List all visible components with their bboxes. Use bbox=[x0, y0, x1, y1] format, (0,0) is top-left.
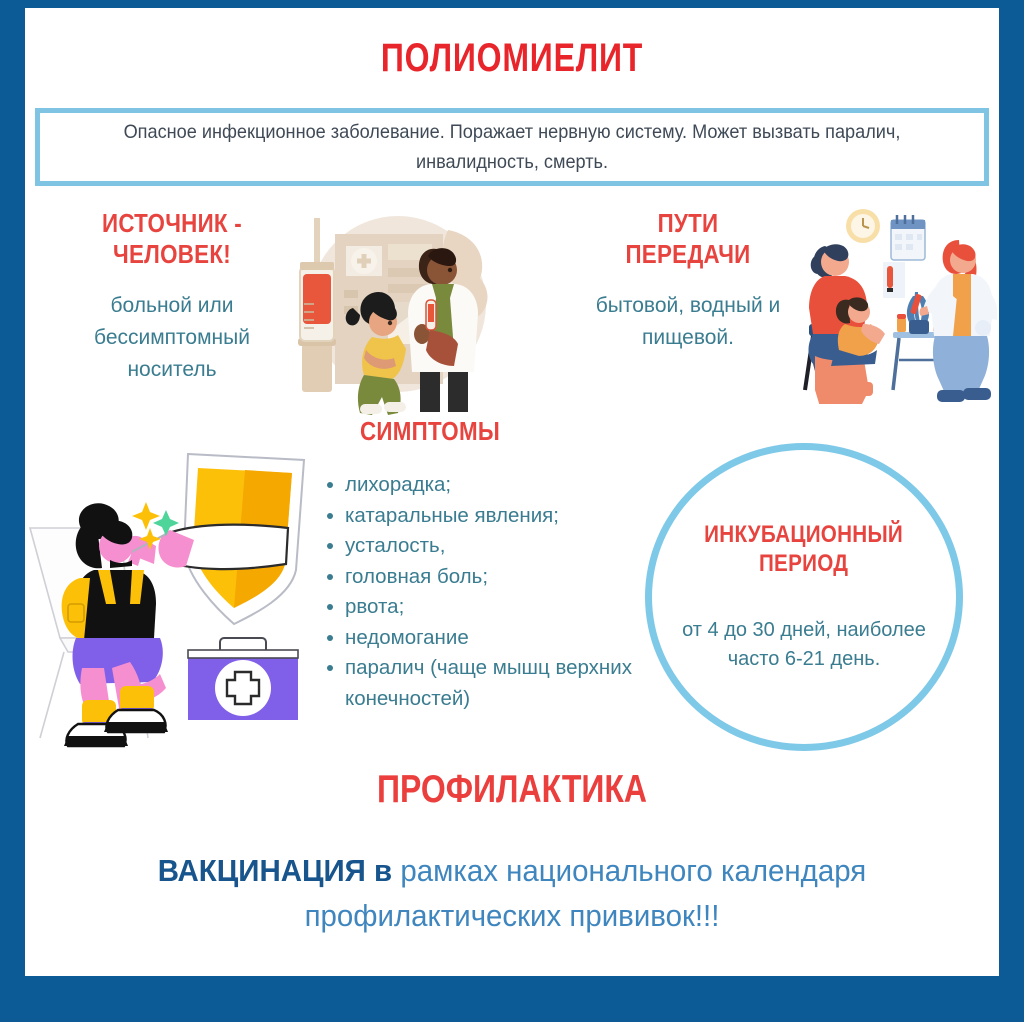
symptom-item: паралич (чаще мышц верхних конечностей) bbox=[325, 653, 675, 714]
symptom-label: недомогание bbox=[345, 626, 469, 649]
symptom-label: лихорадка; bbox=[345, 473, 451, 496]
person-shield-firstaid-kit-icon bbox=[25, 438, 320, 748]
incubation-period-circle: ИНКУБАЦИОННЫЙ ПЕРИОД от 4 до 30 дней, на… bbox=[645, 443, 963, 751]
symptom-label: головная боль; bbox=[345, 565, 488, 588]
bullet-icon bbox=[327, 482, 333, 488]
bullet-icon bbox=[327, 543, 333, 549]
bullet-icon bbox=[327, 574, 333, 580]
source-heading: ИСТОЧНИК - ЧЕЛОВЕК! bbox=[65, 208, 280, 270]
doctor-vaccinating-girl-icon bbox=[280, 204, 505, 416]
mother-child-nurse-vaccination-icon bbox=[787, 204, 997, 404]
transmission-heading-line1: ПУТИ bbox=[589, 208, 787, 239]
symptom-item: усталость, bbox=[325, 531, 675, 562]
bullet-icon bbox=[327, 513, 333, 519]
poster-canvas: ПОЛИОМИЕЛИТ Опасное инфекционное заболев… bbox=[25, 8, 999, 976]
intro-text: Опасное инфекционное заболевание. Поража… bbox=[73, 117, 951, 177]
transmission-heading: ПУТИ ПЕРЕДАЧИ bbox=[589, 208, 787, 270]
prevention-heading: ПРОФИЛАКТИКА bbox=[113, 768, 912, 812]
bullet-icon bbox=[327, 604, 333, 610]
symptom-item: катаральные явления; bbox=[325, 501, 675, 532]
transmission-heading-line2: ПЕРЕДАЧИ bbox=[589, 239, 787, 270]
prevention-emphasis: ВАКЦИНАЦИЯ в bbox=[158, 853, 392, 888]
intro-box: Опасное инфекционное заболевание. Поража… bbox=[35, 108, 989, 186]
symptom-label: катаральные явления; bbox=[345, 504, 559, 527]
symptom-label: усталость, bbox=[345, 534, 445, 557]
source-body: больной или бессимптомный носитель bbox=[47, 290, 297, 386]
source-heading-line2: ЧЕЛОВЕК! bbox=[65, 239, 280, 270]
source-heading-line1: ИСТОЧНИК - bbox=[65, 208, 280, 239]
symptoms-list: лихорадка; катаральные явления; усталост… bbox=[325, 470, 675, 714]
bullet-icon bbox=[327, 665, 333, 671]
symptom-item: рвота; bbox=[325, 592, 675, 623]
symptom-label: паралич (чаще мышц верхних конечностей) bbox=[345, 656, 632, 710]
transmission-section: ПУТИ ПЕРЕДАЧИ бытовой, водный и пищевой. bbox=[573, 208, 803, 354]
bullet-icon bbox=[327, 635, 333, 641]
symptom-item: головная боль; bbox=[325, 562, 675, 593]
symptom-item: лихорадка; bbox=[325, 470, 675, 501]
symptoms-heading: СИМПТОМЫ bbox=[323, 416, 538, 447]
symptom-item: недомогание bbox=[325, 623, 675, 654]
transmission-body: бытовой, водный и пищевой. bbox=[573, 290, 803, 354]
source-section: ИСТОЧНИК - ЧЕЛОВЕК! больной или бессимпт… bbox=[47, 208, 297, 386]
symptom-label: рвота; bbox=[345, 595, 404, 618]
incubation-body: от 4 до 30 дней, наиболее часто 6-21 ден… bbox=[652, 616, 956, 674]
page-title: ПОЛИОМИЕЛИТ bbox=[122, 36, 901, 81]
incubation-heading-line1: ИНКУБАЦИОННЫЙ bbox=[705, 520, 904, 549]
incubation-heading: ИНКУБАЦИОННЫЙ ПЕРИОД bbox=[705, 520, 904, 578]
prevention-statement: ВАКЦИНАЦИЯ в рамках национального календ… bbox=[92, 848, 932, 938]
incubation-heading-line2: ПЕРИОД bbox=[705, 549, 904, 578]
